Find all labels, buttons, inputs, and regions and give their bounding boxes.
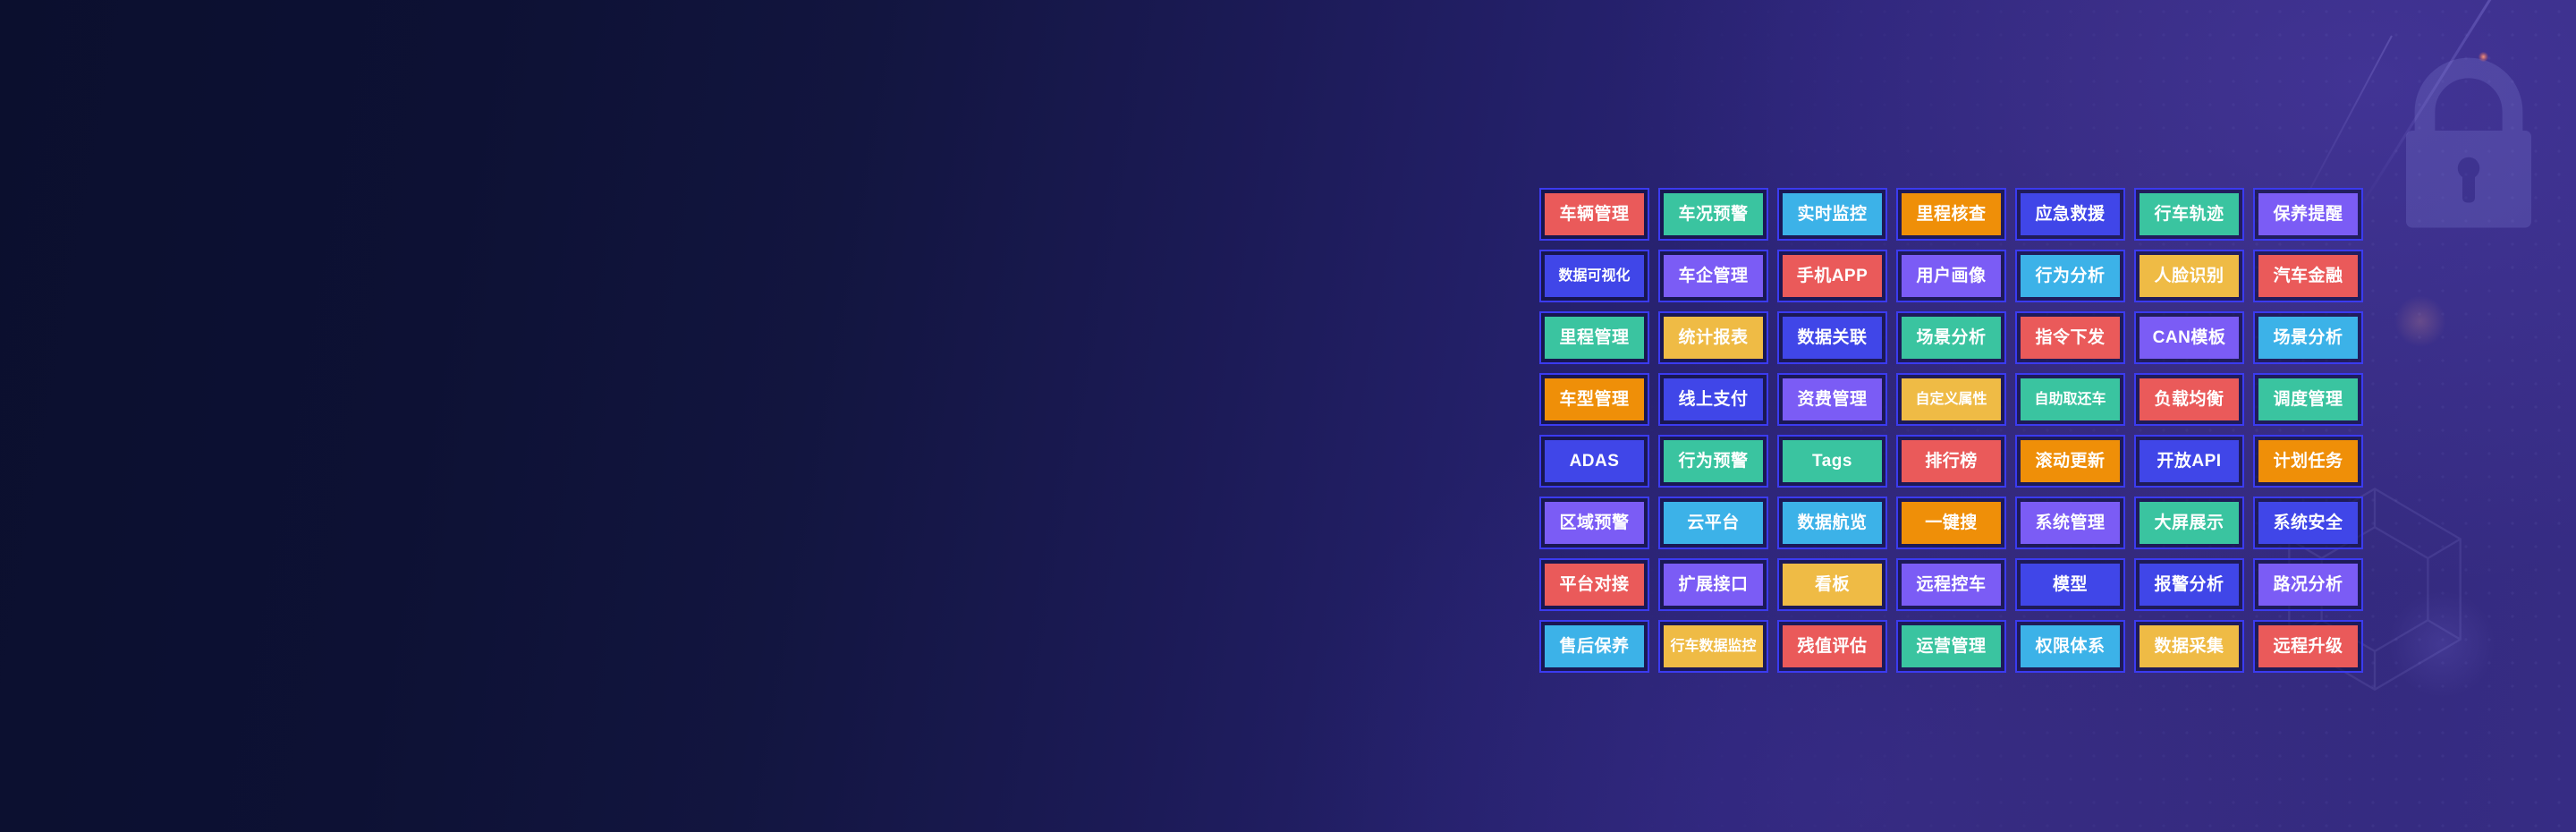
tag-label: 模型: [2021, 564, 2120, 606]
tag-cell[interactable]: 售后保养: [1535, 616, 1654, 677]
tag-frame: 调度管理: [2253, 373, 2363, 426]
tag-cell[interactable]: ADAS: [1535, 430, 1654, 492]
tag-frame: 场景分析: [2253, 311, 2363, 364]
tag-cell[interactable]: 区域预警: [1535, 492, 1654, 554]
tag-frame: 汽车金融: [2253, 250, 2363, 302]
tag-frame: 实时监控: [1777, 188, 1887, 241]
tag-label: 滚动更新: [2021, 440, 2120, 482]
tag-label: 汽车金融: [2258, 255, 2358, 297]
tag-frame: 行车数据监控: [1658, 620, 1768, 673]
tag-cell[interactable]: 汽车金融: [2249, 245, 2368, 307]
tag-cell[interactable]: 模型: [2011, 554, 2130, 616]
tag-cell[interactable]: 远程控车: [1892, 554, 2011, 616]
tag-label: 数据关联: [1783, 317, 1882, 359]
glow-halo-decor-lower: [2388, 590, 2495, 698]
tag-label: 用户画像: [1902, 255, 2001, 297]
tag-cell[interactable]: 运营管理: [1892, 616, 2011, 677]
tag-frame: 远程升级: [2253, 620, 2363, 673]
tag-label: 行为预警: [1664, 440, 1763, 482]
tag-cell[interactable]: 自助取还车: [2011, 369, 2130, 430]
tag-frame: 车辆管理: [1539, 188, 1649, 241]
tag-frame: 残值评估: [1777, 620, 1887, 673]
tag-label: 里程管理: [1545, 317, 1644, 359]
tag-cell[interactable]: 行为分析: [2011, 245, 2130, 307]
tag-cell[interactable]: 保养提醒: [2249, 183, 2368, 245]
tag-cell[interactable]: 车型管理: [1535, 369, 1654, 430]
tag-label: 数据可视化: [1545, 255, 1644, 297]
tag-frame: 数据关联: [1777, 311, 1887, 364]
tag-frame: 运营管理: [1896, 620, 2006, 673]
tag-label: 调度管理: [2258, 378, 2358, 420]
tag-cell[interactable]: 报警分析: [2130, 554, 2249, 616]
tag-frame: 场景分析: [1896, 311, 2006, 364]
tag-cell[interactable]: 场景分析: [2249, 307, 2368, 369]
tag-cell[interactable]: Tags: [1773, 430, 1892, 492]
tag-label: 一键搜: [1902, 502, 2001, 544]
tag-frame: 路况分析: [2253, 558, 2363, 611]
tag-frame: 自助取还车: [2015, 373, 2125, 426]
tag-cell[interactable]: 人脸识别: [2130, 245, 2249, 307]
tag-label: 权限体系: [2021, 625, 2120, 667]
tag-cell[interactable]: 大屏展示: [2130, 492, 2249, 554]
tag-label: 场景分析: [1902, 317, 2001, 359]
tag-label: 行为分析: [2021, 255, 2120, 297]
tag-cell[interactable]: 滚动更新: [2011, 430, 2130, 492]
tag-label: Tags: [1783, 440, 1882, 482]
tag-cell[interactable]: 手机APP: [1773, 245, 1892, 307]
tag-cell[interactable]: 应急救援: [2011, 183, 2130, 245]
tag-cell[interactable]: 路况分析: [2249, 554, 2368, 616]
tag-label: 区域预警: [1545, 502, 1644, 544]
tag-cell[interactable]: 车况预警: [1654, 183, 1773, 245]
tag-label: 系统安全: [2258, 502, 2358, 544]
tag-cell[interactable]: 残值评估: [1773, 616, 1892, 677]
tag-frame: 行车轨迹: [2134, 188, 2244, 241]
tag-label: 应急救援: [2021, 193, 2120, 235]
tag-label: 系统管理: [2021, 502, 2120, 544]
tag-cell[interactable]: 计划任务: [2249, 430, 2368, 492]
tag-cell[interactable]: 调度管理: [2249, 369, 2368, 430]
tag-frame: 一键搜: [1896, 497, 2006, 549]
tag-label: 报警分析: [2140, 564, 2239, 606]
tag-frame: 计划任务: [2253, 435, 2363, 488]
tag-label: 车况预警: [1664, 193, 1763, 235]
tag-frame: 保养提醒: [2253, 188, 2363, 241]
tag-label: 远程升级: [2258, 625, 2358, 667]
tag-label: 扩展接口: [1664, 564, 1763, 606]
tag-frame: 报警分析: [2134, 558, 2244, 611]
tag-frame: 数据采集: [2134, 620, 2244, 673]
tag-frame: 指令下发: [2015, 311, 2125, 364]
tag-label: 行车轨迹: [2140, 193, 2239, 235]
tag-label: 人脸识别: [2140, 255, 2239, 297]
tag-frame: 统计报表: [1658, 311, 1768, 364]
tag-cell[interactable]: 云平台: [1654, 492, 1773, 554]
tag-label: 资费管理: [1783, 378, 1882, 420]
tag-cell[interactable]: 排行榜: [1892, 430, 2011, 492]
tag-cell[interactable]: 实时监控: [1773, 183, 1892, 245]
tag-frame: 大屏展示: [2134, 497, 2244, 549]
tag-frame: 负载均衡: [2134, 373, 2244, 426]
tag-frame: 售后保养: [1539, 620, 1649, 673]
tag-label: 指令下发: [2021, 317, 2120, 359]
tag-label: 负载均衡: [2140, 378, 2239, 420]
tag-frame: 人脸识别: [2134, 250, 2244, 302]
tag-label: 云平台: [1664, 502, 1763, 544]
tag-label: 残值评估: [1783, 625, 1882, 667]
tag-frame: 车企管理: [1658, 250, 1768, 302]
tag-cell[interactable]: 线上支付: [1654, 369, 1773, 430]
tag-cell[interactable]: 负载均衡: [2130, 369, 2249, 430]
tag-frame: 数据可视化: [1539, 250, 1649, 302]
padlock-watermark-icon: [2388, 49, 2549, 237]
tag-label: 实时监控: [1783, 193, 1882, 235]
tag-frame: 云平台: [1658, 497, 1768, 549]
tag-label: 自助取还车: [2021, 378, 2120, 420]
tag-cell[interactable]: 资费管理: [1773, 369, 1892, 430]
tag-label: 开放API: [2140, 440, 2239, 482]
tag-label: 车型管理: [1545, 378, 1644, 420]
tag-cell[interactable]: 数据关联: [1773, 307, 1892, 369]
tag-frame: 数据航览: [1777, 497, 1887, 549]
tag-frame: 区域预警: [1539, 497, 1649, 549]
tag-cell[interactable]: 扩展接口: [1654, 554, 1773, 616]
tag-cell[interactable]: CAN模板: [2130, 307, 2249, 369]
tag-label: 排行榜: [1902, 440, 2001, 482]
tag-frame: 行为分析: [2015, 250, 2125, 302]
tag-label: 平台对接: [1545, 564, 1644, 606]
tag-cell[interactable]: 看板: [1773, 554, 1892, 616]
tag-cell[interactable]: 权限体系: [2011, 616, 2130, 677]
tag-cell[interactable]: 行车数据监控: [1654, 616, 1773, 677]
page-canvas: 车辆管理车况预警实时监控里程核查应急救援行车轨迹保养提醒数据可视化车企管理手机A…: [0, 0, 2576, 832]
tag-frame: 权限体系: [2015, 620, 2125, 673]
tag-frame: Tags: [1777, 435, 1887, 488]
tag-label: 线上支付: [1664, 378, 1763, 420]
tag-label: 自定义属性: [1902, 378, 2001, 420]
tag-frame: 排行榜: [1896, 435, 2006, 488]
tag-cell[interactable]: 平台对接: [1535, 554, 1654, 616]
tag-frame: 应急救援: [2015, 188, 2125, 241]
tag-label: 计划任务: [2258, 440, 2358, 482]
tag-label: 数据航览: [1783, 502, 1882, 544]
glow-spark-icon: [2479, 52, 2488, 62]
tag-frame: 自定义属性: [1896, 373, 2006, 426]
tag-frame: 线上支付: [1658, 373, 1768, 426]
tag-label: 行车数据监控: [1664, 625, 1763, 667]
tag-label: 车企管理: [1664, 255, 1763, 297]
tag-frame: ADAS: [1539, 435, 1649, 488]
tag-frame: 里程核查: [1896, 188, 2006, 241]
tag-label: 看板: [1783, 564, 1882, 606]
tag-label: 场景分析: [2258, 317, 2358, 359]
tag-frame: 用户画像: [1896, 250, 2006, 302]
feature-tag-grid: 车辆管理车况预警实时监控里程核查应急救援行车轨迹保养提醒数据可视化车企管理手机A…: [1535, 183, 2368, 677]
tag-label: 远程控车: [1902, 564, 2001, 606]
tag-cell[interactable]: 指令下发: [2011, 307, 2130, 369]
tag-cell[interactable]: 里程管理: [1535, 307, 1654, 369]
tag-cell[interactable]: 开放API: [2130, 430, 2249, 492]
tag-frame: 资费管理: [1777, 373, 1887, 426]
tag-frame: 模型: [2015, 558, 2125, 611]
tag-label: 里程核查: [1902, 193, 2001, 235]
tag-cell[interactable]: 自定义属性: [1892, 369, 2011, 430]
tag-cell[interactable]: 数据航览: [1773, 492, 1892, 554]
tag-label: CAN模板: [2140, 317, 2239, 359]
tag-cell[interactable]: 车辆管理: [1535, 183, 1654, 245]
tag-label: 车辆管理: [1545, 193, 1644, 235]
tag-frame: 行为预警: [1658, 435, 1768, 488]
tag-cell[interactable]: 车企管理: [1654, 245, 1773, 307]
tag-cell[interactable]: 用户画像: [1892, 245, 2011, 307]
tag-frame: 车况预警: [1658, 188, 1768, 241]
tag-cell[interactable]: 系统管理: [2011, 492, 2130, 554]
tag-label: 统计报表: [1664, 317, 1763, 359]
tag-frame: 扩展接口: [1658, 558, 1768, 611]
glow-halo-decor: [2394, 295, 2446, 347]
tag-cell[interactable]: 一键搜: [1892, 492, 2011, 554]
tag-frame: 平台对接: [1539, 558, 1649, 611]
tag-cell[interactable]: 行为预警: [1654, 430, 1773, 492]
tag-cell[interactable]: 里程核查: [1892, 183, 2011, 245]
tag-label: 数据采集: [2140, 625, 2239, 667]
tag-cell[interactable]: 统计报表: [1654, 307, 1773, 369]
tag-label: 大屏展示: [2140, 502, 2239, 544]
tag-frame: 开放API: [2134, 435, 2244, 488]
tag-frame: 手机APP: [1777, 250, 1887, 302]
tag-frame: 系统安全: [2253, 497, 2363, 549]
tag-cell[interactable]: 场景分析: [1892, 307, 2011, 369]
tag-cell[interactable]: 数据可视化: [1535, 245, 1654, 307]
tag-label: 售后保养: [1545, 625, 1644, 667]
tag-frame: CAN模板: [2134, 311, 2244, 364]
tag-label: 路况分析: [2258, 564, 2358, 606]
tag-label: 保养提醒: [2258, 193, 2358, 235]
tag-frame: 车型管理: [1539, 373, 1649, 426]
tag-label: 手机APP: [1783, 255, 1882, 297]
tag-cell[interactable]: 行车轨迹: [2130, 183, 2249, 245]
tag-label: ADAS: [1545, 440, 1644, 482]
tag-cell[interactable]: 远程升级: [2249, 616, 2368, 677]
tag-cell[interactable]: 系统安全: [2249, 492, 2368, 554]
tag-frame: 看板: [1777, 558, 1887, 611]
tag-frame: 系统管理: [2015, 497, 2125, 549]
tag-frame: 里程管理: [1539, 311, 1649, 364]
tag-frame: 滚动更新: [2015, 435, 2125, 488]
tag-label: 运营管理: [1902, 625, 2001, 667]
tag-frame: 远程控车: [1896, 558, 2006, 611]
light-streak-decor: [2354, 0, 2512, 216]
tag-cell[interactable]: 数据采集: [2130, 616, 2249, 677]
